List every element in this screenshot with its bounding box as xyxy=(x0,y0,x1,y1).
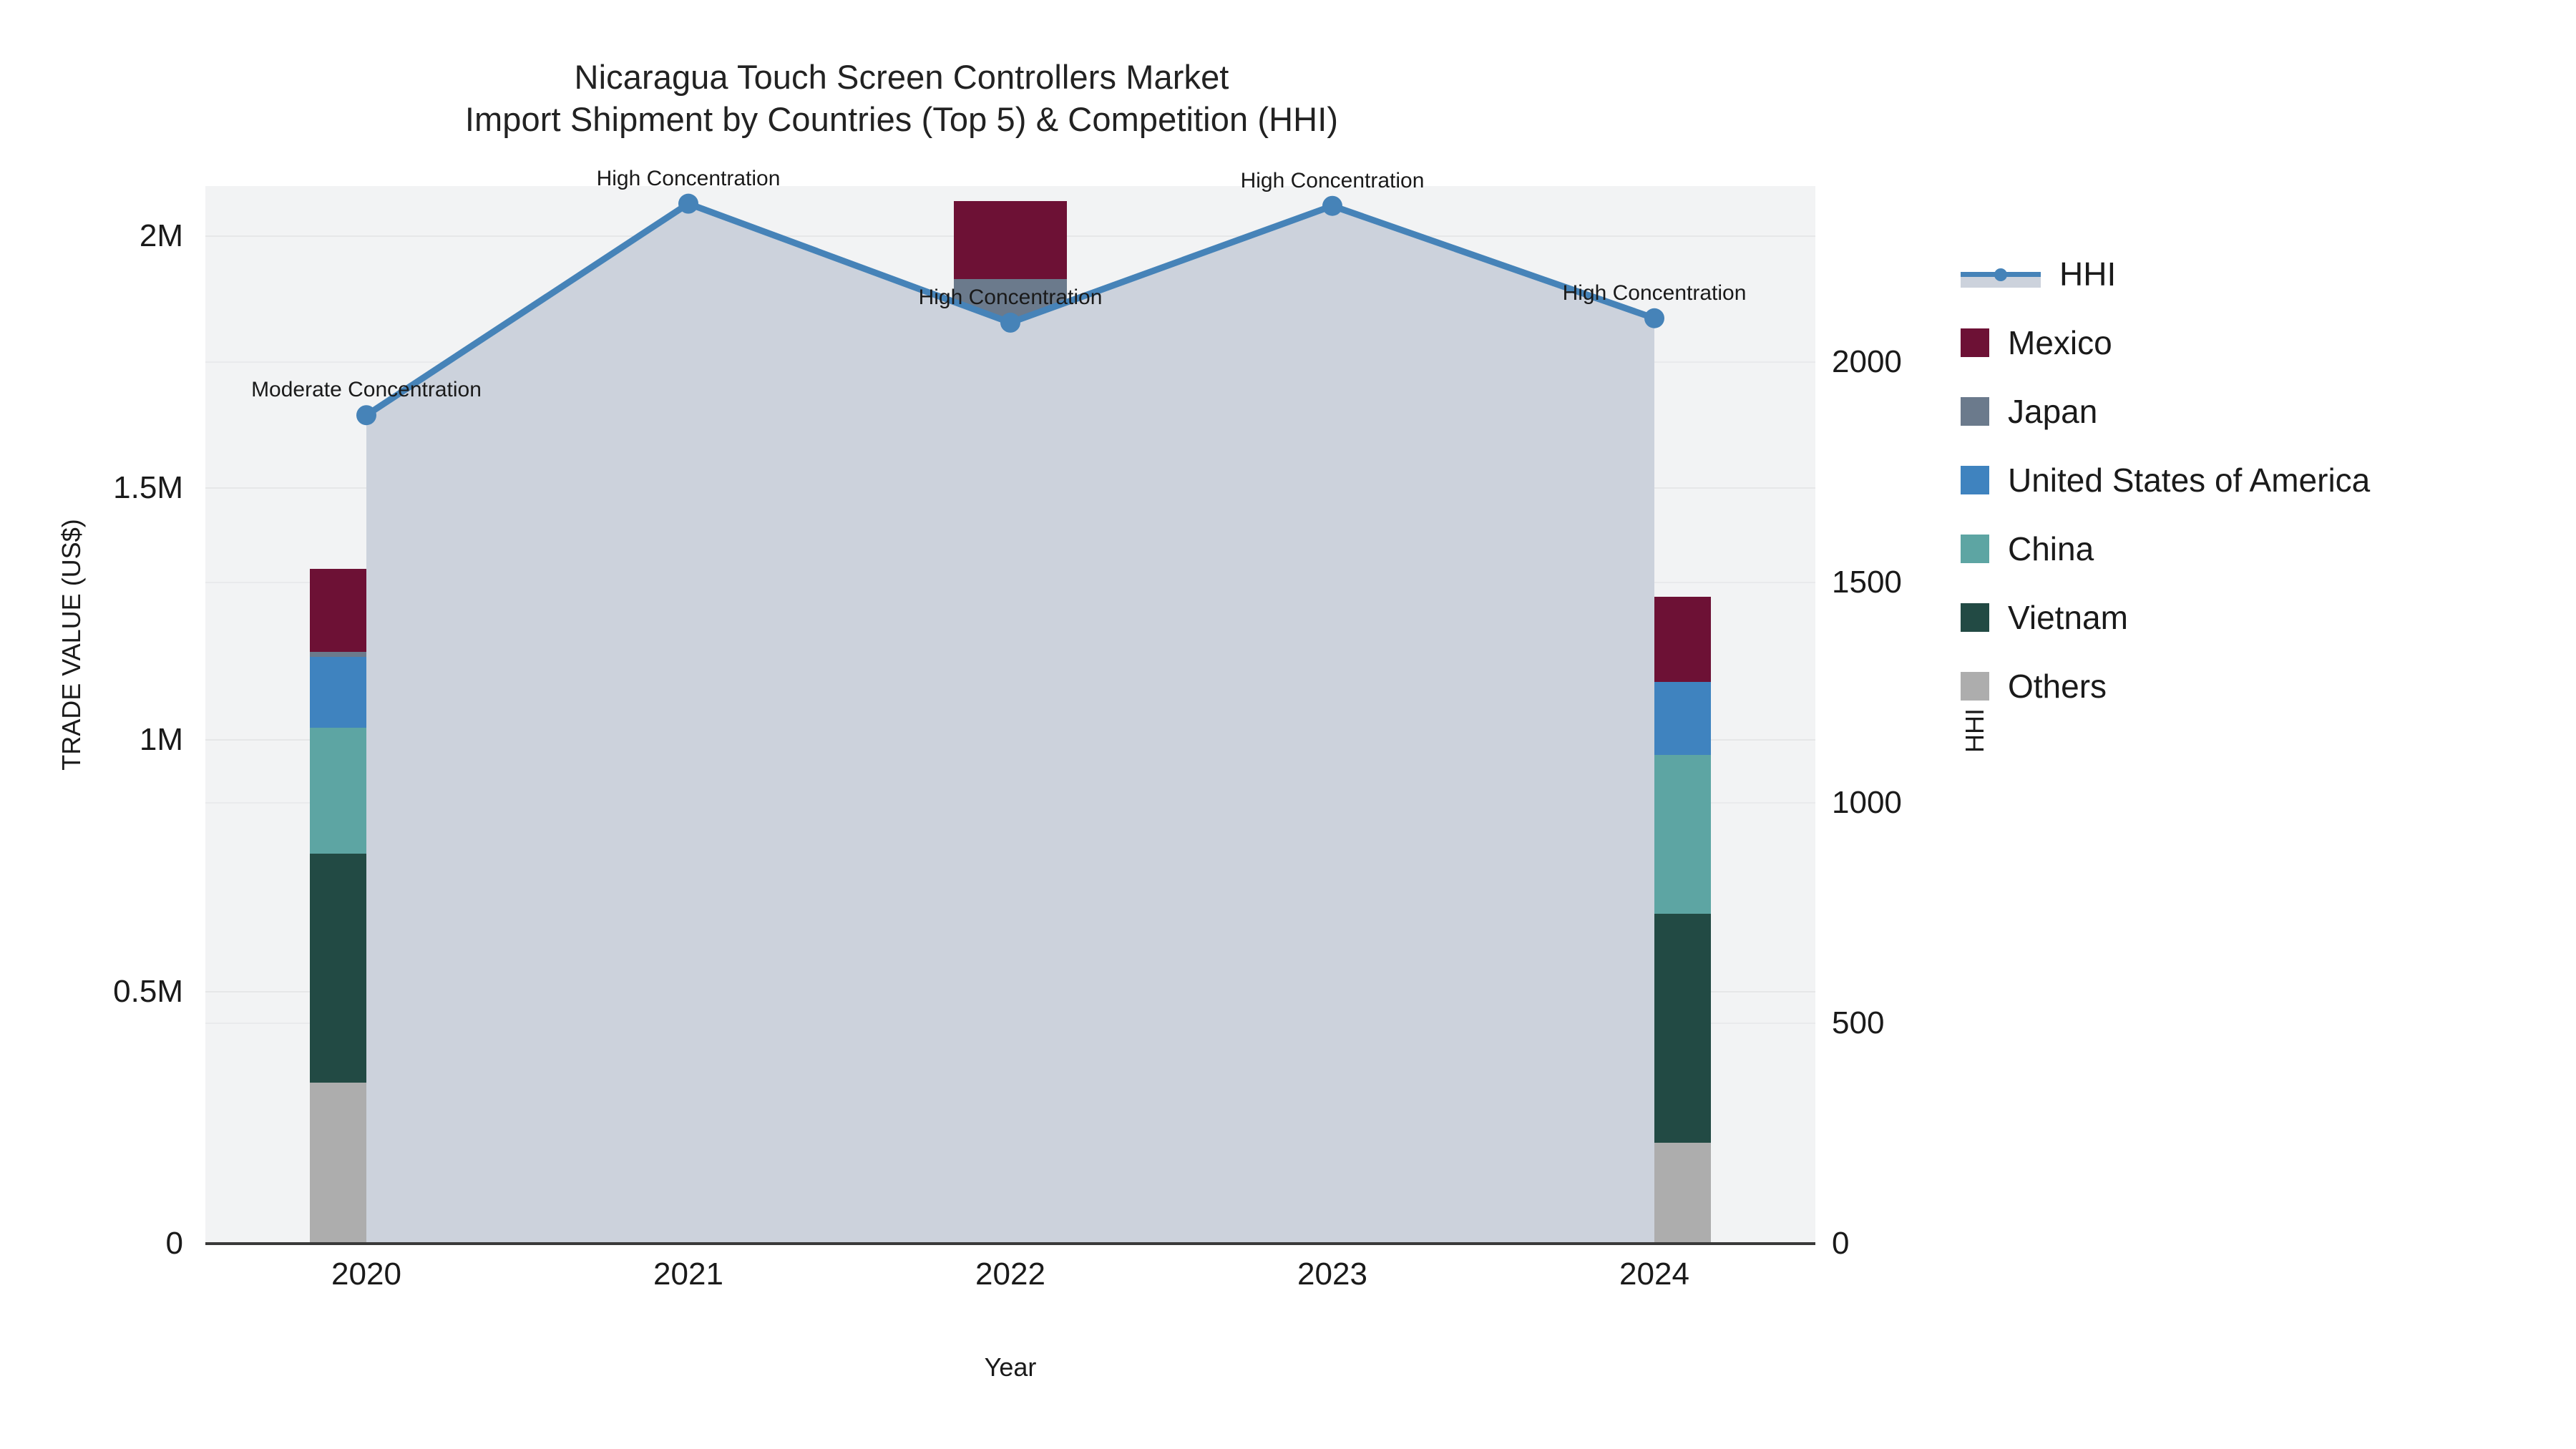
y-tick-right: 1500 xyxy=(1832,565,1902,600)
x-tick: 2020 xyxy=(331,1257,401,1292)
x-tick: 2022 xyxy=(975,1257,1045,1292)
y-axis-left-title: TRADE VALUE (US$) xyxy=(57,358,87,931)
legend-swatch-icon xyxy=(1961,603,1989,632)
y-tick-left: 0.5M xyxy=(0,974,183,1010)
legend-label: HHI xyxy=(2059,255,2116,293)
hhi-marker[interactable] xyxy=(356,405,376,425)
hhi-area-fill xyxy=(366,204,1654,1244)
legend-item-china[interactable]: China xyxy=(1961,514,2370,583)
hhi-marker[interactable] xyxy=(1644,308,1664,328)
legend-line-marker-icon xyxy=(1961,260,2041,288)
legend-swatch-icon xyxy=(1961,535,1989,563)
x-axis-title: Year xyxy=(205,1352,1815,1382)
y-tick-left: 2M xyxy=(0,218,183,254)
y-tick-right: 2000 xyxy=(1832,344,1902,380)
y-tick-left: 1.5M xyxy=(0,470,183,506)
hhi-annotation: High Concentration xyxy=(919,286,1103,310)
legend-label: Others xyxy=(2008,667,2107,706)
legend: HHIMexicoJapanUnited States of AmericaCh… xyxy=(1961,240,2370,721)
hhi-annotation: High Concentration xyxy=(597,167,781,191)
chart-title: Nicaragua Touch Screen Controllers Marke… xyxy=(0,56,1803,140)
y-tick-right: 500 xyxy=(1832,1005,1884,1041)
legend-item-japan[interactable]: Japan xyxy=(1961,377,2370,446)
chart-title-line2: Import Shipment by Countries (Top 5) & C… xyxy=(0,98,1803,140)
legend-item-vietnam[interactable]: Vietnam xyxy=(1961,583,2370,652)
x-tick: 2023 xyxy=(1297,1257,1367,1292)
y-tick-right: 0 xyxy=(1832,1226,1849,1262)
legend-item-mexico[interactable]: Mexico xyxy=(1961,308,2370,377)
y-tick-right: 1000 xyxy=(1832,785,1902,821)
x-axis-line xyxy=(205,1242,1815,1245)
legend-label: Mexico xyxy=(2008,323,2112,362)
hhi-marker[interactable] xyxy=(1000,313,1020,333)
legend-label: United States of America xyxy=(2008,461,2370,499)
legend-label: Japan xyxy=(2008,392,2097,431)
hhi-annotation: Moderate Concentration xyxy=(251,378,482,402)
hhi-annotation: High Concentration xyxy=(1241,169,1425,193)
legend-item-united-states-of-america[interactable]: United States of America xyxy=(1961,446,2370,514)
chart-title-line1: Nicaragua Touch Screen Controllers Marke… xyxy=(0,56,1803,98)
hhi-annotation: High Concentration xyxy=(1563,281,1747,306)
legend-swatch-icon xyxy=(1961,328,1989,357)
legend-label: China xyxy=(2008,530,2094,568)
hhi-marker[interactable] xyxy=(678,194,698,214)
y-tick-left: 0 xyxy=(0,1226,183,1262)
hhi-line-series xyxy=(205,186,1815,1244)
hhi-marker[interactable] xyxy=(1322,196,1342,216)
y-tick-left: 1M xyxy=(0,722,183,758)
legend-label: Vietnam xyxy=(2008,598,2128,637)
plot-area: Moderate ConcentrationHigh Concentration… xyxy=(205,186,1815,1244)
legend-item-others[interactable]: Others xyxy=(1961,652,2370,721)
legend-item-hhi[interactable]: HHI xyxy=(1961,240,2370,308)
legend-swatch-icon xyxy=(1961,397,1989,426)
x-tick: 2021 xyxy=(653,1257,723,1292)
legend-swatch-icon xyxy=(1961,672,1989,701)
x-tick: 2024 xyxy=(1619,1257,1689,1292)
legend-swatch-icon xyxy=(1961,466,1989,494)
